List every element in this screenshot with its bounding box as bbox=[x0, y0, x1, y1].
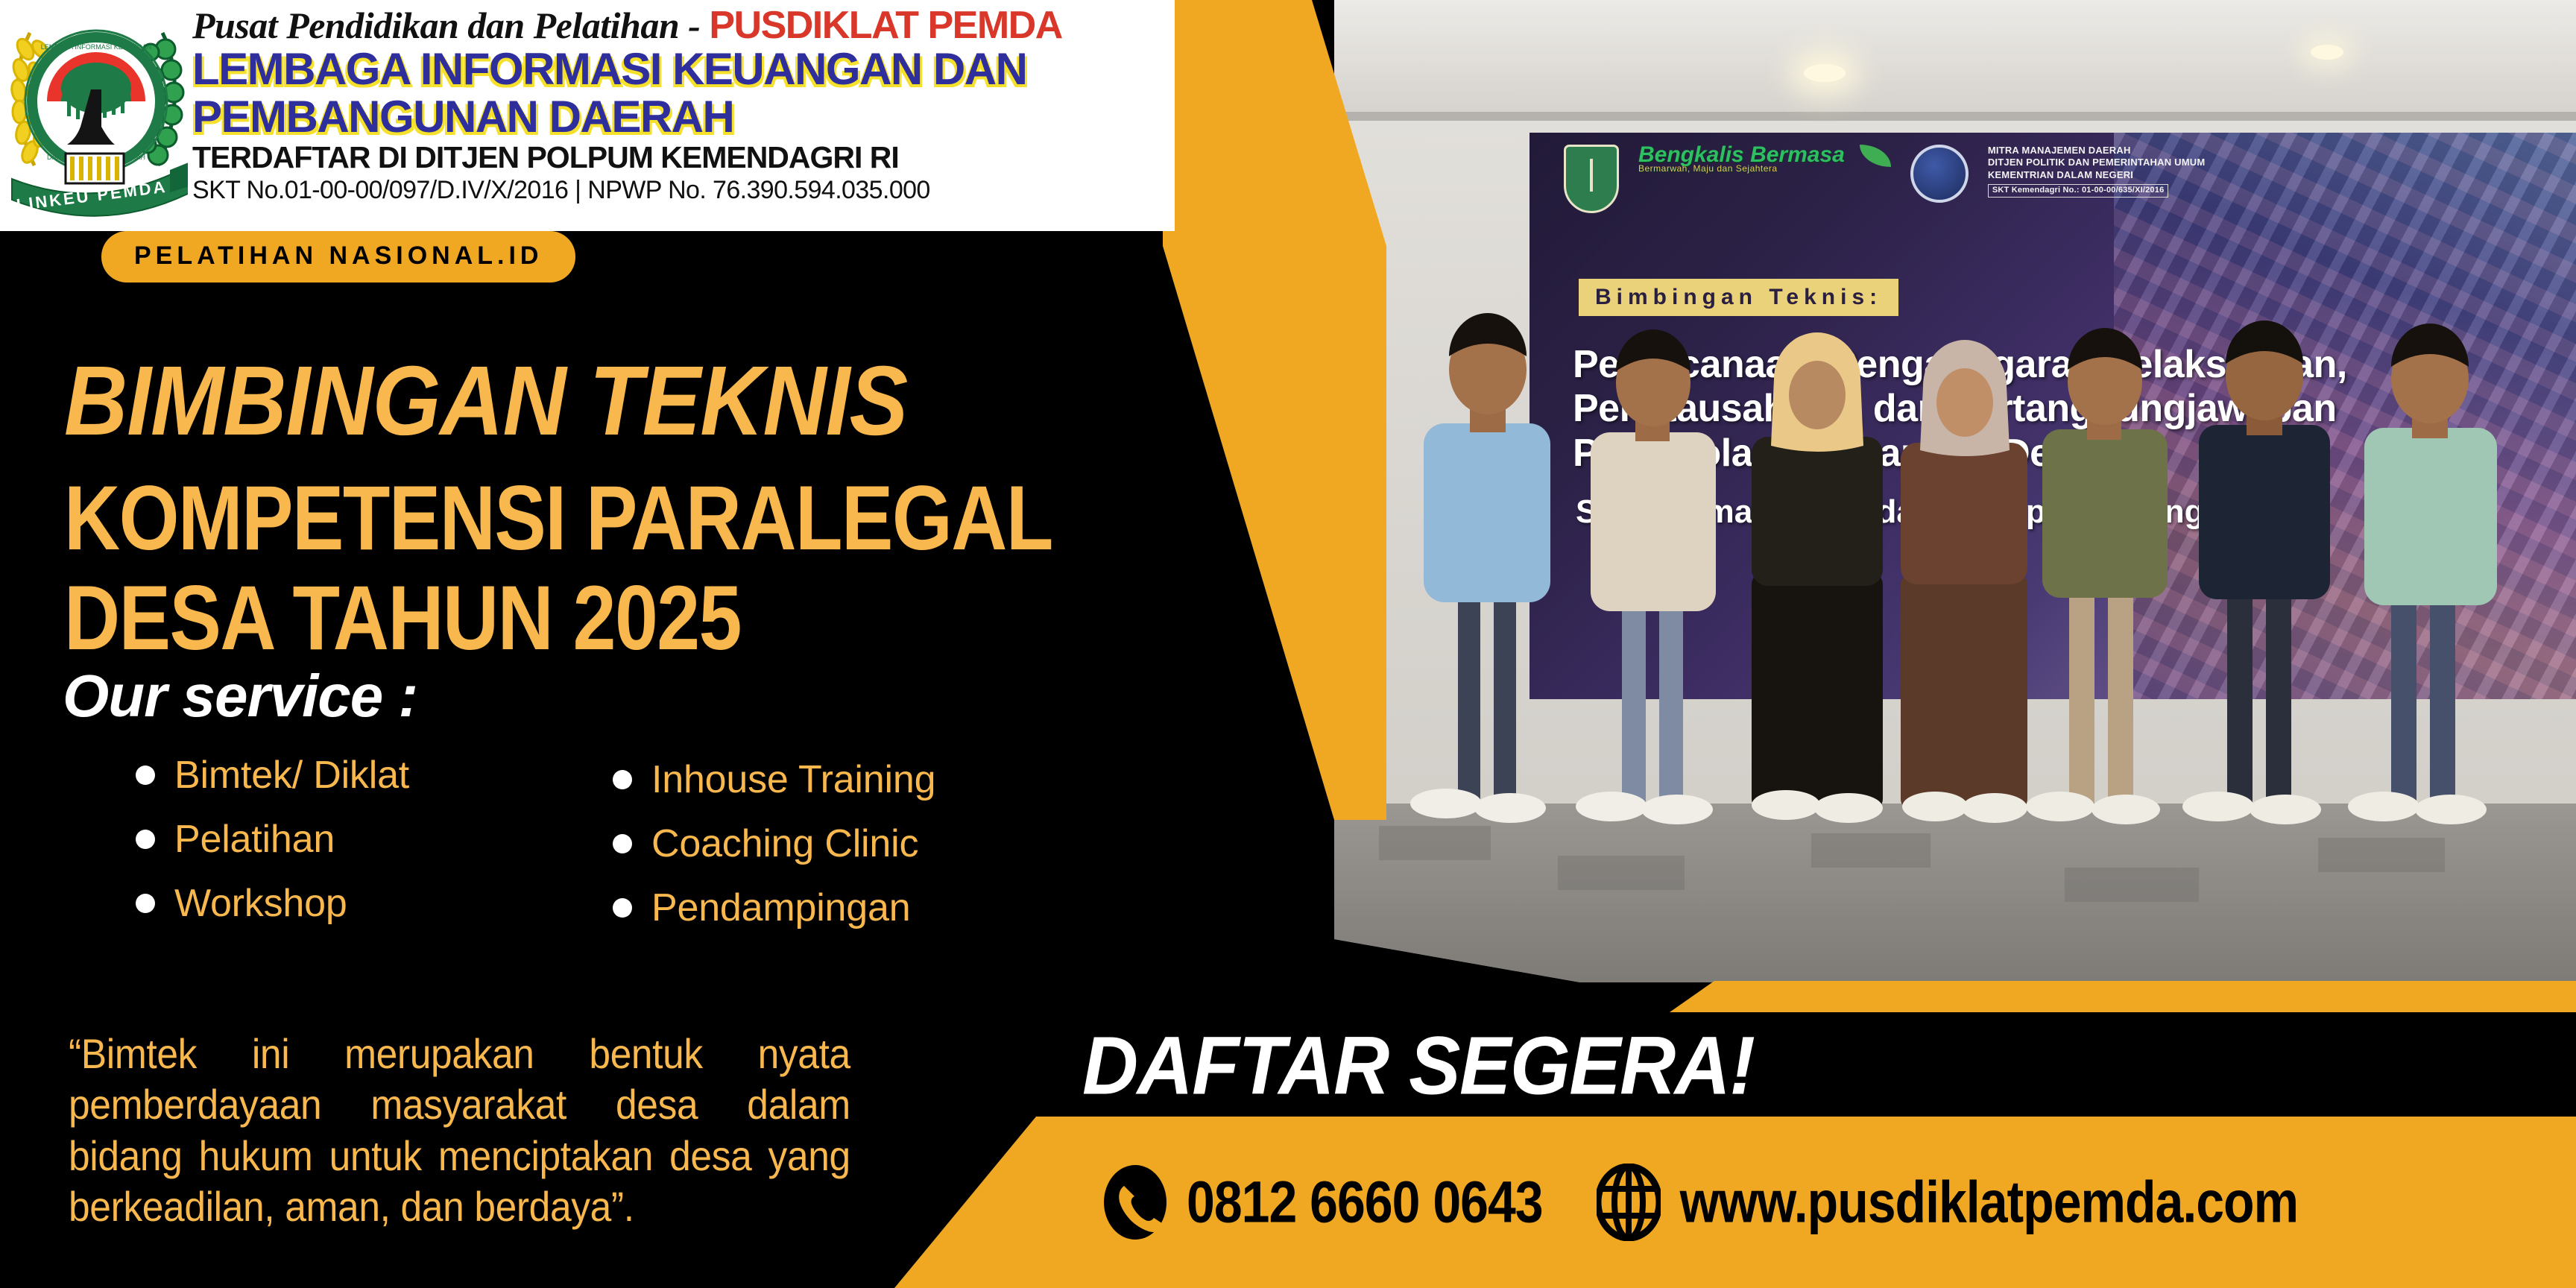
person bbox=[1901, 340, 2027, 823]
ministry-text-block: MITRA MANAJEMEN DAERAH DITJEN POLITIK DA… bbox=[1988, 145, 2206, 198]
services-column-right: Inhouse Training Coaching Clinic Pendamp… bbox=[613, 753, 1000, 930]
group-photo-people bbox=[1334, 237, 2576, 982]
bullet-icon bbox=[613, 770, 632, 789]
phone-icon bbox=[1103, 1164, 1167, 1241]
person bbox=[2026, 328, 2168, 824]
service-label: Coaching Clinic bbox=[651, 821, 918, 866]
orange-strip-accent bbox=[1670, 981, 2576, 1012]
service-label: Workshop bbox=[174, 881, 347, 926]
services-column-left: Bimtek/ Diklat Pelatihan Workshop bbox=[136, 753, 613, 930]
bullet-icon bbox=[136, 894, 155, 913]
letterhead-registered: TERDAFTAR DI DITJEN POLPUM KEMENDAGRI RI bbox=[192, 142, 1172, 173]
photo-ceiling bbox=[1334, 0, 2576, 112]
linkeu-pemda-crest-icon: LEMBAGA INFORMASI KEUANGAN DAN PEMBANGUN… bbox=[0, 0, 192, 224]
letterhead: LEMBAGA INFORMASI KEUANGAN DAN PEMBANGUN… bbox=[0, 0, 1175, 231]
website-url: www.pusdiklatpemda.com bbox=[1680, 1169, 2298, 1236]
letterhead-line-2: LEMBAGA INFORMASI KEUANGAN DAN bbox=[192, 48, 1172, 91]
ministry-skt: SKT Kemendagri No.: 01-00-00/635/XI/2016 bbox=[1988, 184, 2169, 198]
leaf-icon bbox=[1860, 145, 1891, 167]
service-label: Pendampingan bbox=[651, 885, 910, 930]
website-contact[interactable]: www.pusdiklatpemda.com bbox=[1597, 1164, 2298, 1241]
bullet-icon bbox=[136, 765, 155, 785]
letterhead-line-1-red: PUSDIKLAT PEMDA bbox=[709, 4, 1061, 47]
promotional-banner: Bengkalis Bermasa Bermarwah, Maju dan Se… bbox=[0, 0, 2576, 1288]
person bbox=[1576, 329, 1716, 824]
service-label: Inhouse Training bbox=[651, 757, 935, 802]
list-item: Inhouse Training bbox=[613, 757, 1000, 802]
person bbox=[1752, 332, 1883, 823]
event-photo: Bengkalis Bermasa Bermarwah, Maju dan Se… bbox=[1334, 0, 2576, 982]
list-item: Pendampingan bbox=[613, 885, 1000, 930]
service-label: Bimtek/ Diklat bbox=[174, 753, 409, 798]
letterhead-line-3: PEMBANGUNAN DAERAH bbox=[192, 95, 1172, 139]
ministry-line-3: KEMENTRIAN DALAM NEGERI bbox=[1988, 169, 2206, 181]
globe-icon bbox=[1597, 1164, 1661, 1241]
bullet-icon bbox=[613, 898, 632, 918]
ceiling-light-icon bbox=[2311, 45, 2343, 60]
headline-line-3: DESA TAHUN 2025 bbox=[64, 566, 741, 671]
photo-ceiling-edge bbox=[1334, 112, 2576, 121]
list-item: Coaching Clinic bbox=[613, 821, 1000, 866]
phone-number: 0812 6660 0643 bbox=[1187, 1169, 1543, 1236]
list-item: Bimtek/ Diklat bbox=[136, 753, 613, 798]
letterhead-line-1-italic: Pusat Pendidikan dan Pelatihan - bbox=[192, 4, 709, 46]
service-label: Pelatihan bbox=[174, 817, 335, 862]
letterhead-skt: SKT No.01-00-00/097/D.IV/X/2016 | NPWP N… bbox=[192, 177, 1172, 203]
cta-headline: DAFTAR SEGERA! bbox=[1082, 1020, 1755, 1114]
backdrop-logo-row: Bengkalis Bermasa Bermarwah, Maju dan Se… bbox=[1564, 145, 2205, 213]
person bbox=[1410, 313, 1550, 823]
list-item: Pelatihan bbox=[136, 817, 613, 862]
services-list: Bimtek/ Diklat Pelatihan Workshop Inhous… bbox=[136, 753, 1000, 930]
svg-text:LEMBAGA INFORMASI KEUANGAN: LEMBAGA INFORMASI KEUANGAN bbox=[41, 43, 152, 51]
letterhead-line-1: Pusat Pendidikan dan Pelatihan - PUSDIKL… bbox=[192, 6, 1172, 45]
ministry-line-2: DITJEN POLITIK DAN PEMERINTAHAN UMUM bbox=[1988, 157, 2206, 168]
ceiling-light-icon bbox=[1804, 64, 1846, 82]
kemendagri-seal-icon bbox=[1910, 145, 1969, 203]
contact-info: 0812 6660 0643 www.pusdiklatpemda.com bbox=[1103, 1117, 2576, 1288]
phone-contact[interactable]: 0812 6660 0643 bbox=[1103, 1164, 1543, 1241]
person bbox=[2348, 323, 2497, 824]
bullet-icon bbox=[136, 830, 155, 849]
letterhead-text: Pusat Pendidikan dan Pelatihan - PUSDIKL… bbox=[192, 0, 1175, 203]
person bbox=[2182, 321, 2330, 824]
list-item: Workshop bbox=[136, 881, 613, 926]
bengkalis-shield-icon bbox=[1564, 145, 1619, 213]
bengkalis-wordmark: Bengkalis Bermasa Bermarwah, Maju dan Se… bbox=[1638, 145, 1845, 173]
ministry-line-1: MITRA MANAJEMEN DAERAH bbox=[1988, 145, 2206, 157]
headline-line-1: BIMBINGAN TEKNIS bbox=[64, 344, 907, 458]
pelatihan-nasional-badge[interactable]: PELATIHAN NASIONAL.ID bbox=[101, 231, 575, 282]
headline-line-2: KOMPETENSI PARALEGAL bbox=[64, 467, 1052, 571]
testimonial-quote: “Bimtek ini merupakan bentuk nyata pembe… bbox=[69, 1029, 850, 1232]
bullet-icon bbox=[613, 834, 632, 853]
services-heading: Our service : bbox=[63, 662, 417, 730]
